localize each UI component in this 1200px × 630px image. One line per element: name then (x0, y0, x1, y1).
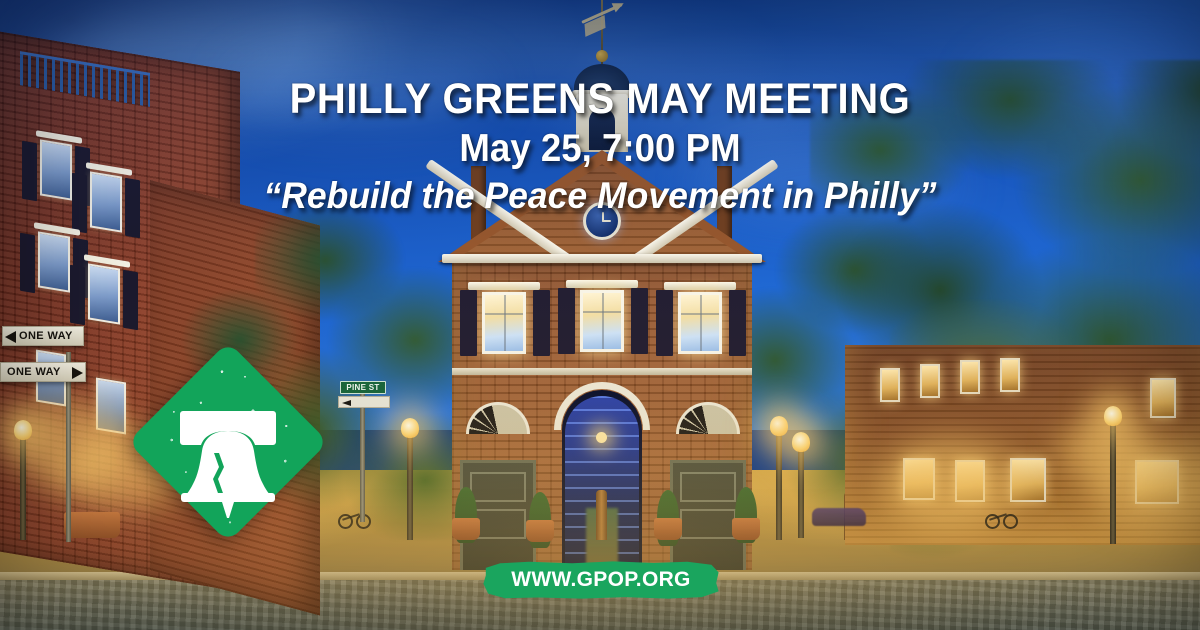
street-sign-sub-plate (338, 396, 390, 408)
headline-line-3: “Rebuild the Peace Movement in Philly” (24, 177, 1176, 216)
window (482, 292, 526, 354)
storefront-glow (1060, 420, 1150, 480)
planter (732, 518, 760, 540)
window-shutter (558, 288, 575, 354)
window-lintel (566, 280, 638, 288)
arrow-left-icon (5, 331, 16, 343)
window (920, 364, 940, 398)
window-lintel (664, 282, 736, 290)
parked-car (812, 508, 866, 526)
one-way-sign-upper-label: ONE WAY (19, 330, 73, 342)
window-shutter (631, 288, 648, 354)
event-poster: ONE WAY ONE WAY PINE ST PHILLY GREENS MA… (0, 0, 1200, 630)
headline-line-1: PHILLY GREENS MAY MEETING (42, 78, 1158, 121)
liberty-bell-icon (127, 341, 329, 543)
window (1000, 358, 1020, 392)
url-badge-label: WWW.GPOP.ORG (481, 561, 721, 599)
one-way-sign-lower[interactable]: ONE WAY (0, 362, 86, 382)
window (38, 231, 70, 292)
one-way-sign-upper[interactable]: ONE WAY (2, 326, 84, 346)
planter (452, 518, 480, 540)
street-lamp-post (1110, 418, 1116, 544)
pine-street-sign-label: PINE ST (346, 383, 379, 392)
philly-greens-logo[interactable] (127, 341, 329, 543)
planter (654, 518, 682, 540)
window-lintel (468, 282, 540, 290)
window-shutter (460, 290, 477, 356)
window (88, 263, 120, 324)
one-way-sign-lower-label: ONE WAY (7, 366, 61, 378)
planter (526, 520, 554, 542)
window-shutter (20, 233, 35, 294)
facade-band (452, 368, 752, 375)
window (580, 290, 624, 352)
street-lamp-globe (401, 418, 419, 438)
street-lamp-post (798, 442, 804, 538)
window-shutter (656, 290, 673, 356)
street-sign-post (360, 392, 365, 522)
street-lamp-post (20, 430, 26, 540)
window (960, 360, 980, 394)
window (678, 292, 722, 354)
website-url-badge[interactable]: WWW.GPOP.ORG (481, 561, 721, 599)
window-shutter (729, 290, 746, 356)
tunnel-lamp (596, 432, 607, 443)
headline-block: PHILLY GREENS MAY MEETING May 25, 7:00 P… (0, 78, 1200, 216)
planter (64, 512, 120, 538)
window-shutter (123, 270, 138, 331)
weathervane-finial (596, 50, 608, 62)
arrow-right-icon (72, 367, 83, 379)
street-lamp-post (407, 430, 413, 540)
window (880, 368, 900, 402)
window-shutter (533, 290, 550, 356)
street-lamp-globe (1104, 406, 1122, 426)
window-shutter (70, 265, 85, 326)
window (1150, 378, 1176, 418)
street-lamp-post (776, 428, 782, 540)
street-lamp-globe (14, 420, 32, 440)
headline-line-2: May 25, 7:00 PM (36, 129, 1164, 170)
bollard (596, 490, 607, 540)
cornice (442, 254, 762, 263)
street-lamp-globe (792, 432, 810, 452)
pine-street-sign[interactable]: PINE ST (340, 381, 386, 394)
street-lamp-globe (770, 416, 788, 436)
